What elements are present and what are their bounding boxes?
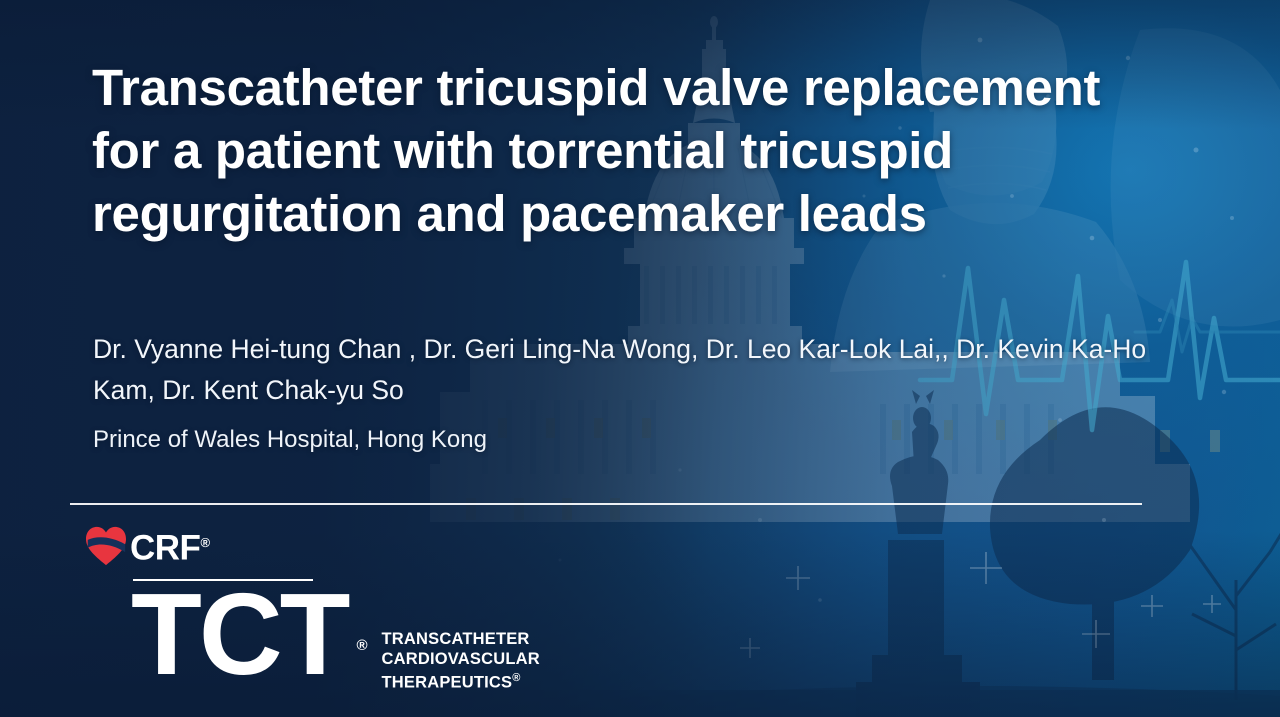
- affiliation-text: Prince of Wales Hospital, Hong Kong: [93, 424, 487, 456]
- crf-text: CRF: [130, 529, 200, 568]
- crf-heart-icon: [85, 526, 127, 566]
- crf-wordmark: CRF®: [130, 525, 210, 567]
- tagline-line-3-text: THERAPEUTICS: [382, 674, 513, 692]
- tagline-line-1: TRANSCATHETER: [382, 630, 540, 650]
- tagline-line-3: THERAPEUTICS®: [382, 669, 540, 693]
- tct-wordmark: TCT®: [131, 582, 348, 686]
- crf-logo-row: CRF®: [85, 524, 210, 568]
- tct-tagline: TRANSCATHETER CARDIOVASCULAR THERAPEUTIC…: [382, 630, 540, 693]
- author-list: Dr. Vyanne Hei-tung Chan , Dr. Geri Ling…: [93, 329, 1183, 411]
- tagline-line-2: CARDIOVASCULAR: [382, 650, 540, 670]
- horizontal-divider: [70, 503, 1142, 505]
- tct-registered-mark: ®: [356, 594, 367, 698]
- tct-text: TCT: [131, 569, 348, 699]
- presentation-title-slide: Transcatheter tricuspid valve replacemen…: [0, 0, 1280, 717]
- tct-logo-row: TCT® TRANSCATHETER CARDIOVASCULAR THERAP…: [131, 582, 540, 693]
- crf-tct-logo: CRF® TCT® TRANSCATHETER CARDIOVASCULAR T…: [85, 524, 545, 679]
- crf-registered-mark: ®: [200, 535, 210, 550]
- slide-title: Transcatheter tricuspid valve replacemen…: [92, 56, 1122, 245]
- tagline-registered-mark: ®: [512, 672, 520, 684]
